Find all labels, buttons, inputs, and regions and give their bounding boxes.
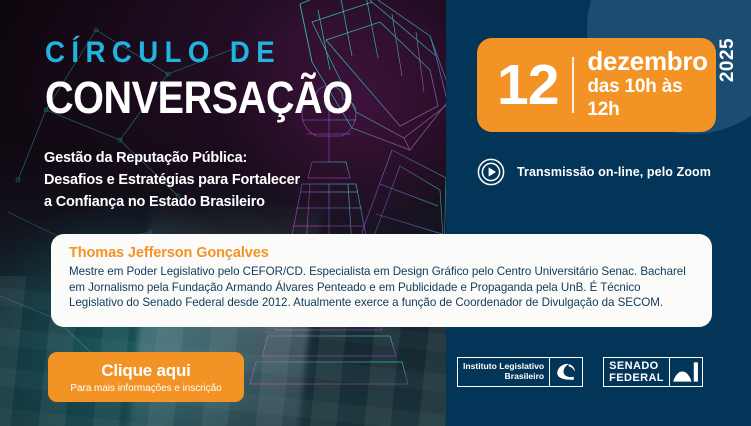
headline-main-line: CONVERSAÇÃO	[45, 75, 335, 121]
subtitle-line-3: a Confiança no Estado Brasileiro	[44, 192, 364, 214]
speaker-bio: Mestre em Poder Legislativo pelo CEFOR/C…	[69, 264, 694, 311]
year-badge: 2025	[711, 14, 745, 106]
ilb-logo-line-2: Brasileiro	[463, 372, 544, 382]
date-day: 12	[477, 57, 572, 114]
register-button[interactable]: Clique aqui Para mais informações e insc…	[48, 352, 244, 402]
speaker-card: Thomas Jefferson Gonçalves Mestre em Pod…	[51, 234, 712, 327]
headline-top-line: CÍRCULO DE	[45, 38, 349, 68]
senado-logo-text: SENADO FEDERAL	[604, 358, 669, 386]
transmission-row: Transmissão on-line, pelo Zoom	[477, 158, 711, 186]
logo-group: Instituto Legislativo Brasileiro SENADO …	[457, 357, 703, 387]
subtitle-line-2: Desafios e Estratégias para Fortalecer	[44, 170, 364, 192]
date-time: das 10h às 12h	[587, 76, 716, 122]
speaker-name: Thomas Jefferson Gonçalves	[69, 245, 694, 261]
headline: CÍRCULO DE CONVERSAÇÃO	[45, 38, 375, 121]
year-label: 2025	[717, 38, 739, 82]
ilb-shell-icon	[549, 358, 582, 386]
date-month: dezembro	[587, 48, 716, 75]
register-button-subtitle: Para mais informações e inscrição	[70, 383, 221, 394]
logo-senado-federal: SENADO FEDERAL	[603, 357, 703, 387]
event-banner: CÍRCULO DE CONVERSAÇÃO Gestão da Reputaç…	[0, 0, 751, 426]
senado-logo-line-1: SENADO	[609, 360, 664, 372]
senado-dome-icon	[669, 358, 702, 386]
subtitle: Gestão da Reputação Pública: Desafios e …	[44, 148, 364, 213]
ilb-logo-text: Instituto Legislativo Brasileiro	[458, 358, 549, 386]
date-details: dezembro das 10h às 12h	[574, 48, 716, 122]
register-button-title: Clique aqui	[101, 361, 190, 381]
logo-instituto-legislativo-brasileiro: Instituto Legislativo Brasileiro	[457, 357, 583, 387]
senado-logo-line-2: FEDERAL	[609, 372, 664, 384]
transmission-label: Transmissão on-line, pelo Zoom	[517, 165, 711, 179]
date-card: 12 dezembro das 10h às 12h	[477, 38, 716, 132]
subtitle-line-1: Gestão da Reputação Pública:	[44, 148, 364, 170]
play-circle-icon	[477, 158, 505, 186]
